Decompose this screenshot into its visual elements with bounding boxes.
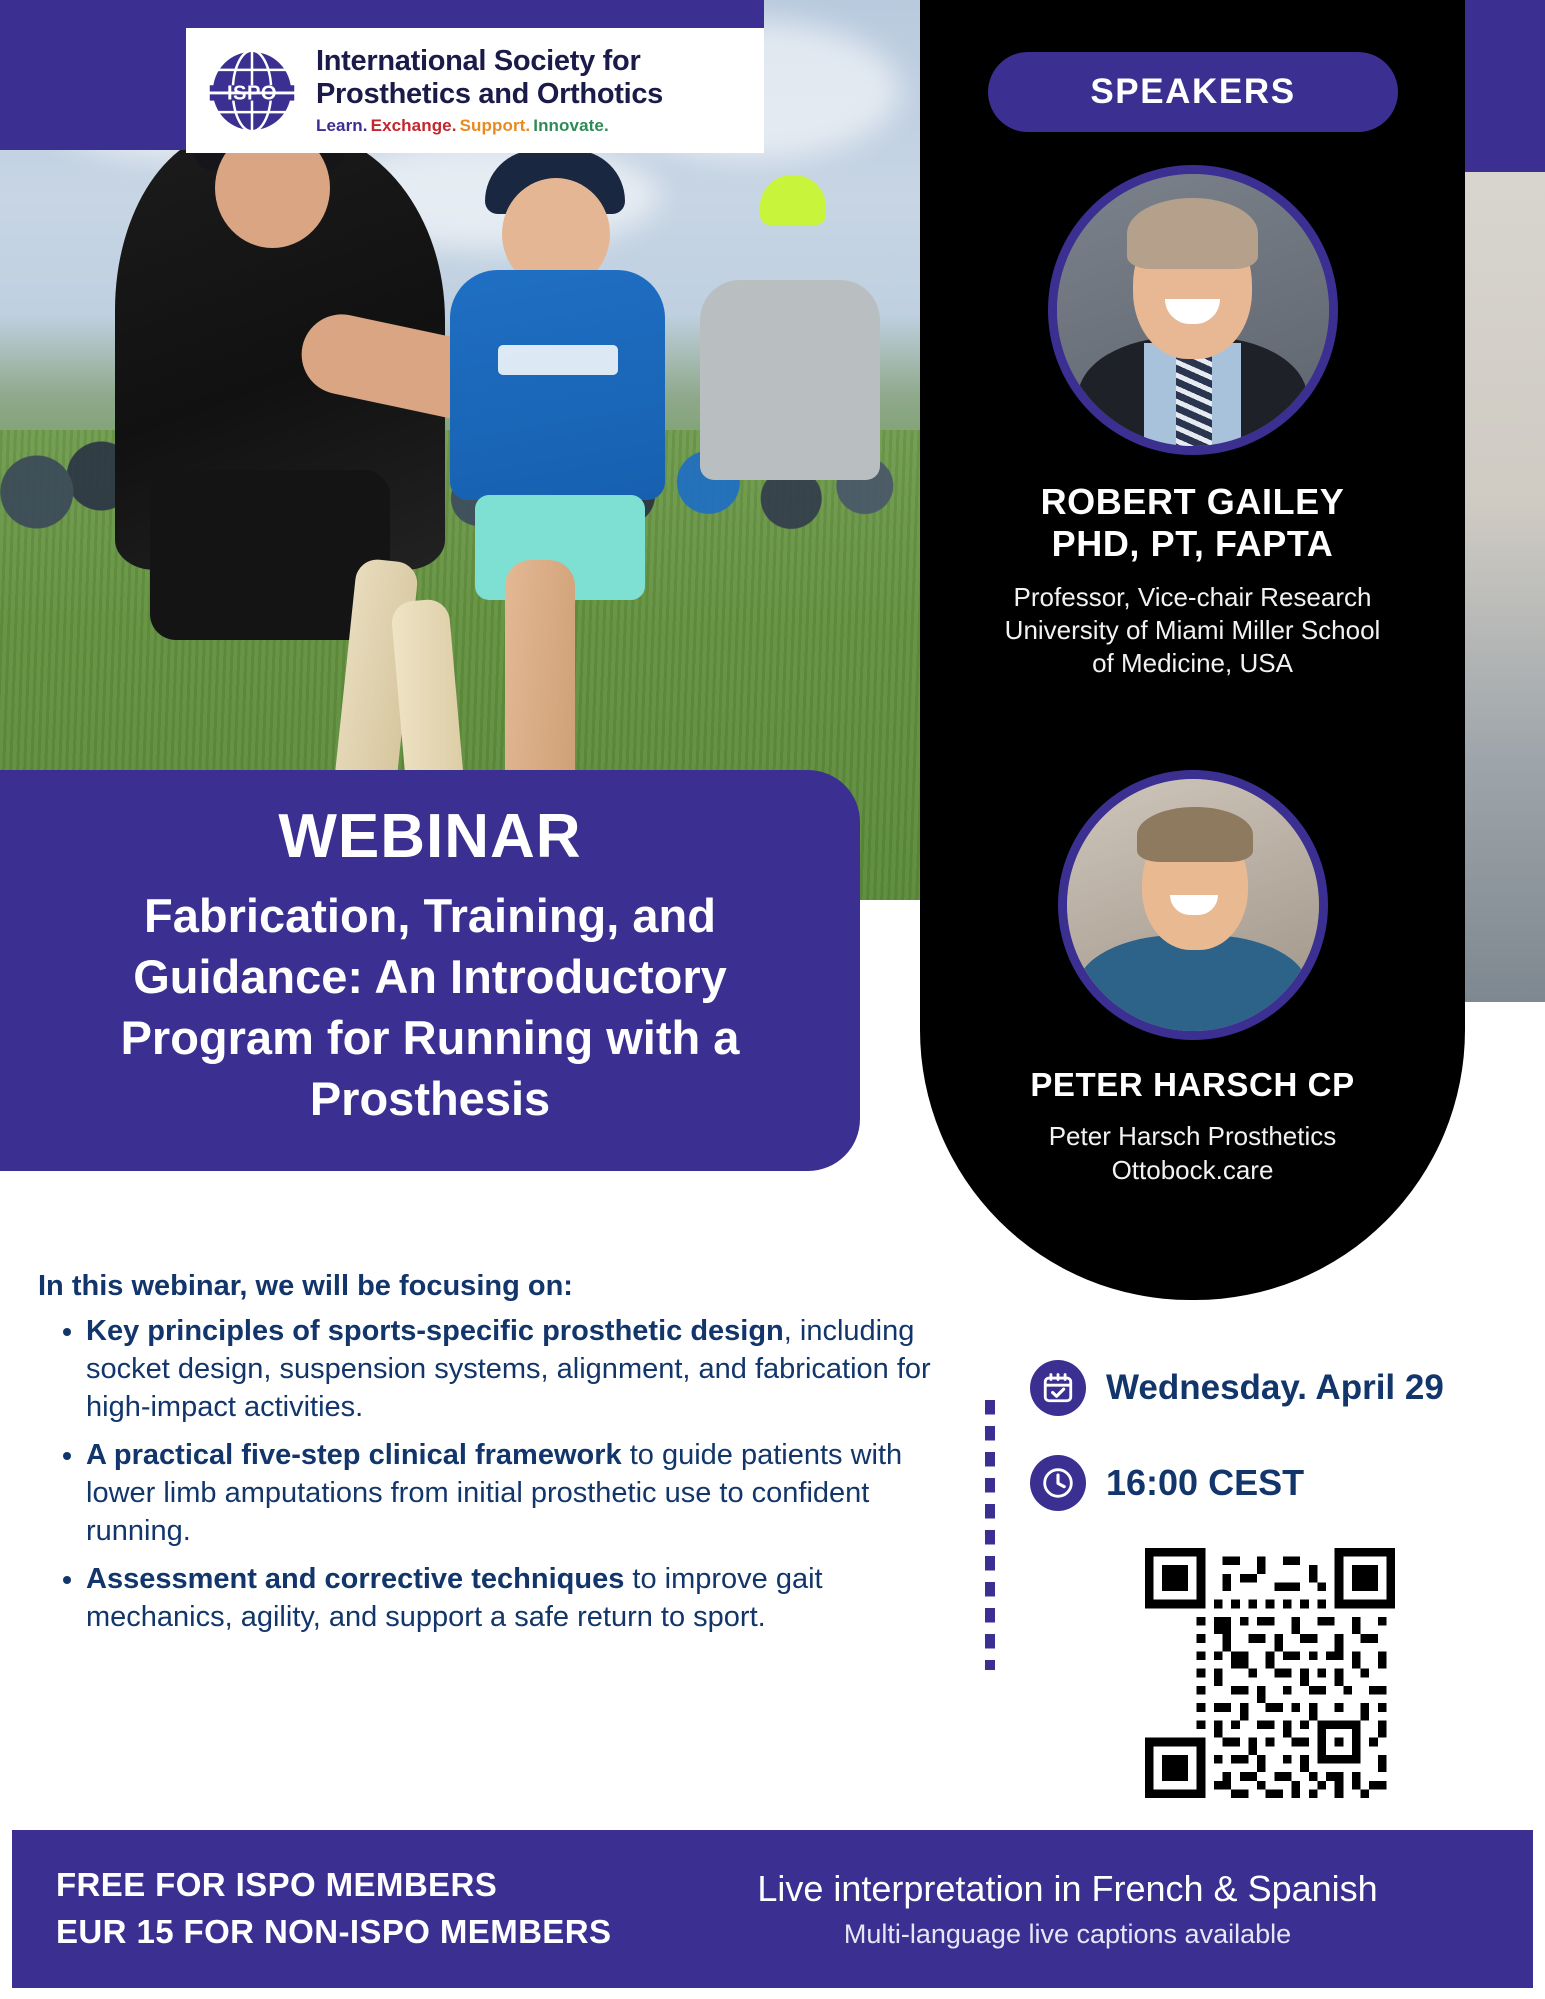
footer-bar: FREE FOR ISPO MEMBERS EUR 15 FOR NON-ISP… [12, 1830, 1533, 1988]
logo-tagline: Learn.Exchange.Support.Innovate. [316, 116, 663, 136]
speakers-heading-label: SPEAKERS [1090, 72, 1295, 112]
webinar-time-text: 16:00 CEST [1106, 1462, 1304, 1504]
logo-line-2: Prosthetics and Orthotics [316, 78, 663, 110]
tagline-word-exchange: Exchange. [371, 116, 457, 135]
speaker-card-2: PETER HARSCH CP Peter Harsch Prosthetics… [920, 770, 1465, 1187]
bystander-shape [700, 280, 880, 480]
list-item: Key principles of sports-specific prosth… [86, 1313, 968, 1427]
ispo-logo: ISPO International Society for Prostheti… [186, 28, 764, 153]
speaker-1-avatar [1048, 165, 1338, 455]
right-photo-strip [1465, 172, 1545, 1002]
webinar-description: In this webinar, we will be focusing on:… [38, 1270, 968, 1637]
description-bullet-list: Key principles of sports-specific prosth… [86, 1313, 968, 1637]
pricing-line-1: FREE FOR ISPO MEMBERS [56, 1862, 632, 1909]
pricing-line-2: EUR 15 FOR NON-ISPO MEMBERS [56, 1909, 632, 1956]
webinar-kicker: WEBINAR [46, 804, 814, 869]
bullet-2-bold: A practical five-step clinical framework [86, 1439, 622, 1471]
webinar-time-row: 16:00 CEST [1030, 1455, 1304, 1511]
speaker-2-avatar [1058, 770, 1328, 1040]
speaker-1-bio: Professor, Vice-chair Research Universit… [920, 581, 1465, 681]
dotted-divider [985, 1400, 995, 1670]
right-violet-strip [1465, 0, 1545, 172]
top-violet-strip [186, 0, 764, 28]
speaker-1-name-line1: ROBERT GAILEY [920, 481, 1465, 523]
speaker-1-bio-line2: University of Miami Miller School [920, 614, 1465, 647]
language-line-2: Multi-language live captions available [632, 1917, 1503, 1952]
calendar-icon [1030, 1360, 1086, 1416]
webinar-title-card: WEBINAR Fabrication, Training, and Guida… [0, 770, 860, 1171]
webinar-title: Fabrication, Training, and Guidance: An … [46, 885, 814, 1129]
bullet-1-bold: Key principles of sports-specific prosth… [86, 1315, 784, 1347]
tagline-word-learn: Learn. [316, 116, 368, 135]
speaker-2-name: PETER HARSCH CP [920, 1066, 1465, 1104]
right-white-strip [1465, 1002, 1545, 1442]
clock-icon [1030, 1455, 1086, 1511]
hi-vis-cap [760, 175, 826, 225]
speaker-card-1: ROBERT GAILEY PHD, PT, FAPTA Professor, … [920, 165, 1465, 680]
speaker-2-bio-line1: Peter Harsch Prosthetics [920, 1120, 1465, 1153]
webinar-date-text: Wednesday. April 29 [1106, 1368, 1444, 1408]
svg-text:ISPO: ISPO [227, 82, 277, 104]
speaker-1-name-line2: PHD, PT, FAPTA [920, 523, 1465, 565]
description-lead: In this webinar, we will be focusing on: [38, 1270, 968, 1303]
logo-line-1: International Society for [316, 45, 663, 77]
speaker-2-bio: Peter Harsch Prosthetics Ottobock.care [920, 1120, 1465, 1187]
webinar-date-row: Wednesday. April 29 [1030, 1360, 1444, 1416]
speakers-heading-pill: SPEAKERS [988, 52, 1398, 132]
footer-pricing: FREE FOR ISPO MEMBERS EUR 15 FOR NON-ISP… [12, 1862, 632, 1956]
sponsor-logo-on-shirt [498, 345, 618, 375]
young-athlete-figure [440, 150, 670, 550]
speaker-2-bio-line2: Ottobock.care [920, 1154, 1465, 1187]
qr-code[interactable] [1145, 1548, 1395, 1798]
tagline-word-innovate: Innovate. [533, 116, 609, 135]
speaker-1-bio-line3: of Medicine, USA [920, 647, 1465, 680]
footer-language-info: Live interpretation in French & Spanish … [632, 1866, 1533, 1952]
list-item: Assessment and corrective techniques to … [86, 1561, 968, 1637]
list-item: A practical five-step clinical framework… [86, 1437, 968, 1551]
webinar-poster: ISPO International Society for Prostheti… [0, 0, 1545, 1999]
speaker-1-name: ROBERT GAILEY PHD, PT, FAPTA [920, 481, 1465, 565]
speaker-2-name-line1: PETER HARSCH CP [920, 1066, 1465, 1104]
athlete-shirt [450, 270, 665, 500]
tagline-word-support: Support. [460, 116, 531, 135]
speaker-1-bio-line1: Professor, Vice-chair Research [920, 581, 1465, 614]
top-left-violet-corner [0, 0, 200, 150]
bullet-3-bold: Assessment and corrective techniques [86, 1563, 624, 1595]
globe-icon: ISPO [204, 43, 300, 139]
language-line-1: Live interpretation in French & Spanish [632, 1866, 1503, 1911]
